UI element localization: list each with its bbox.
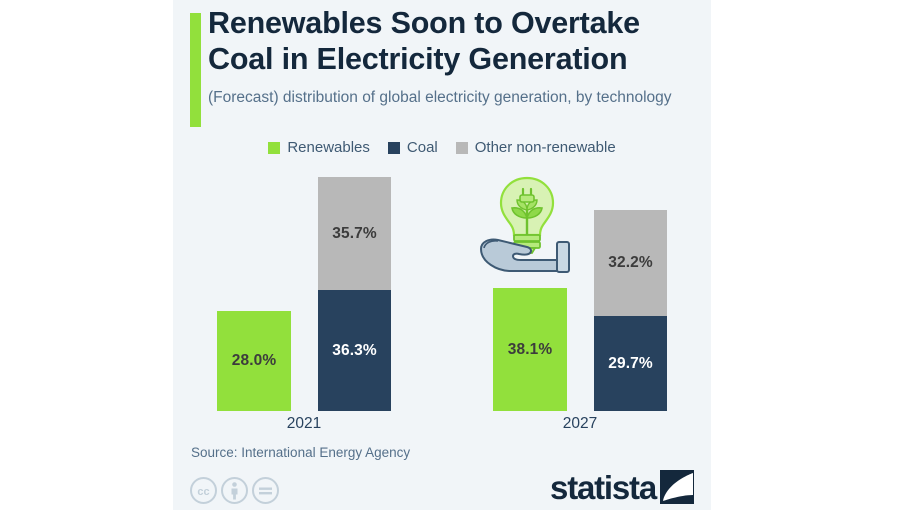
source-text: Source: International Energy Agency (191, 445, 410, 460)
segment-2021-other: 35.7% (318, 177, 391, 290)
chart-card: Renewables Soon to Overtake Coal in Elec… (173, 0, 711, 510)
creative-commons-icons[interactable]: cc (189, 476, 282, 505)
bar-value-2027-renewables: 38.1% (508, 341, 552, 359)
cc-by-icon (220, 476, 249, 505)
bar-2027-nonrenewable[interactable]: 32.2% 29.7% (594, 210, 667, 411)
bar-2021-renewables[interactable]: 28.0% (217, 311, 291, 411)
bar-chart-plot: 28.0% 35.7% 36.3% 2021 38.1% (173, 0, 711, 510)
axis-label-2027: 2027 (493, 415, 667, 433)
statista-mark-icon (660, 470, 694, 504)
bar-value-2027-coal: 29.7% (608, 355, 652, 373)
segment-2027-coal: 29.7% (594, 316, 667, 411)
axis-label-2021: 2021 (217, 415, 391, 433)
bar-value-2021-renewables: 28.0% (232, 352, 276, 370)
bar-value-2021-other: 35.7% (332, 225, 376, 243)
bar-value-2027-other: 32.2% (608, 254, 652, 272)
segment-2027-renewables: 38.1% (493, 288, 567, 411)
bar-value-2021-coal: 36.3% (332, 342, 376, 360)
cc-icon: cc (189, 476, 218, 505)
infographic-page: Renewables Soon to Overtake Coal in Elec… (0, 0, 900, 510)
svg-text:cc: cc (197, 486, 209, 498)
hand-holding-lightbulb-icon (475, 172, 579, 274)
bar-2027-renewables[interactable]: 38.1% (493, 288, 567, 411)
segment-2021-renewables: 28.0% (217, 311, 291, 411)
statista-wordmark: statista (550, 471, 656, 504)
bar-2021-nonrenewable[interactable]: 35.7% 36.3% (318, 177, 391, 411)
statista-logo[interactable]: statista (550, 470, 694, 504)
cc-nd-icon (251, 476, 280, 505)
segment-2027-other: 32.2% (594, 210, 667, 316)
segment-2021-coal: 36.3% (318, 290, 391, 411)
